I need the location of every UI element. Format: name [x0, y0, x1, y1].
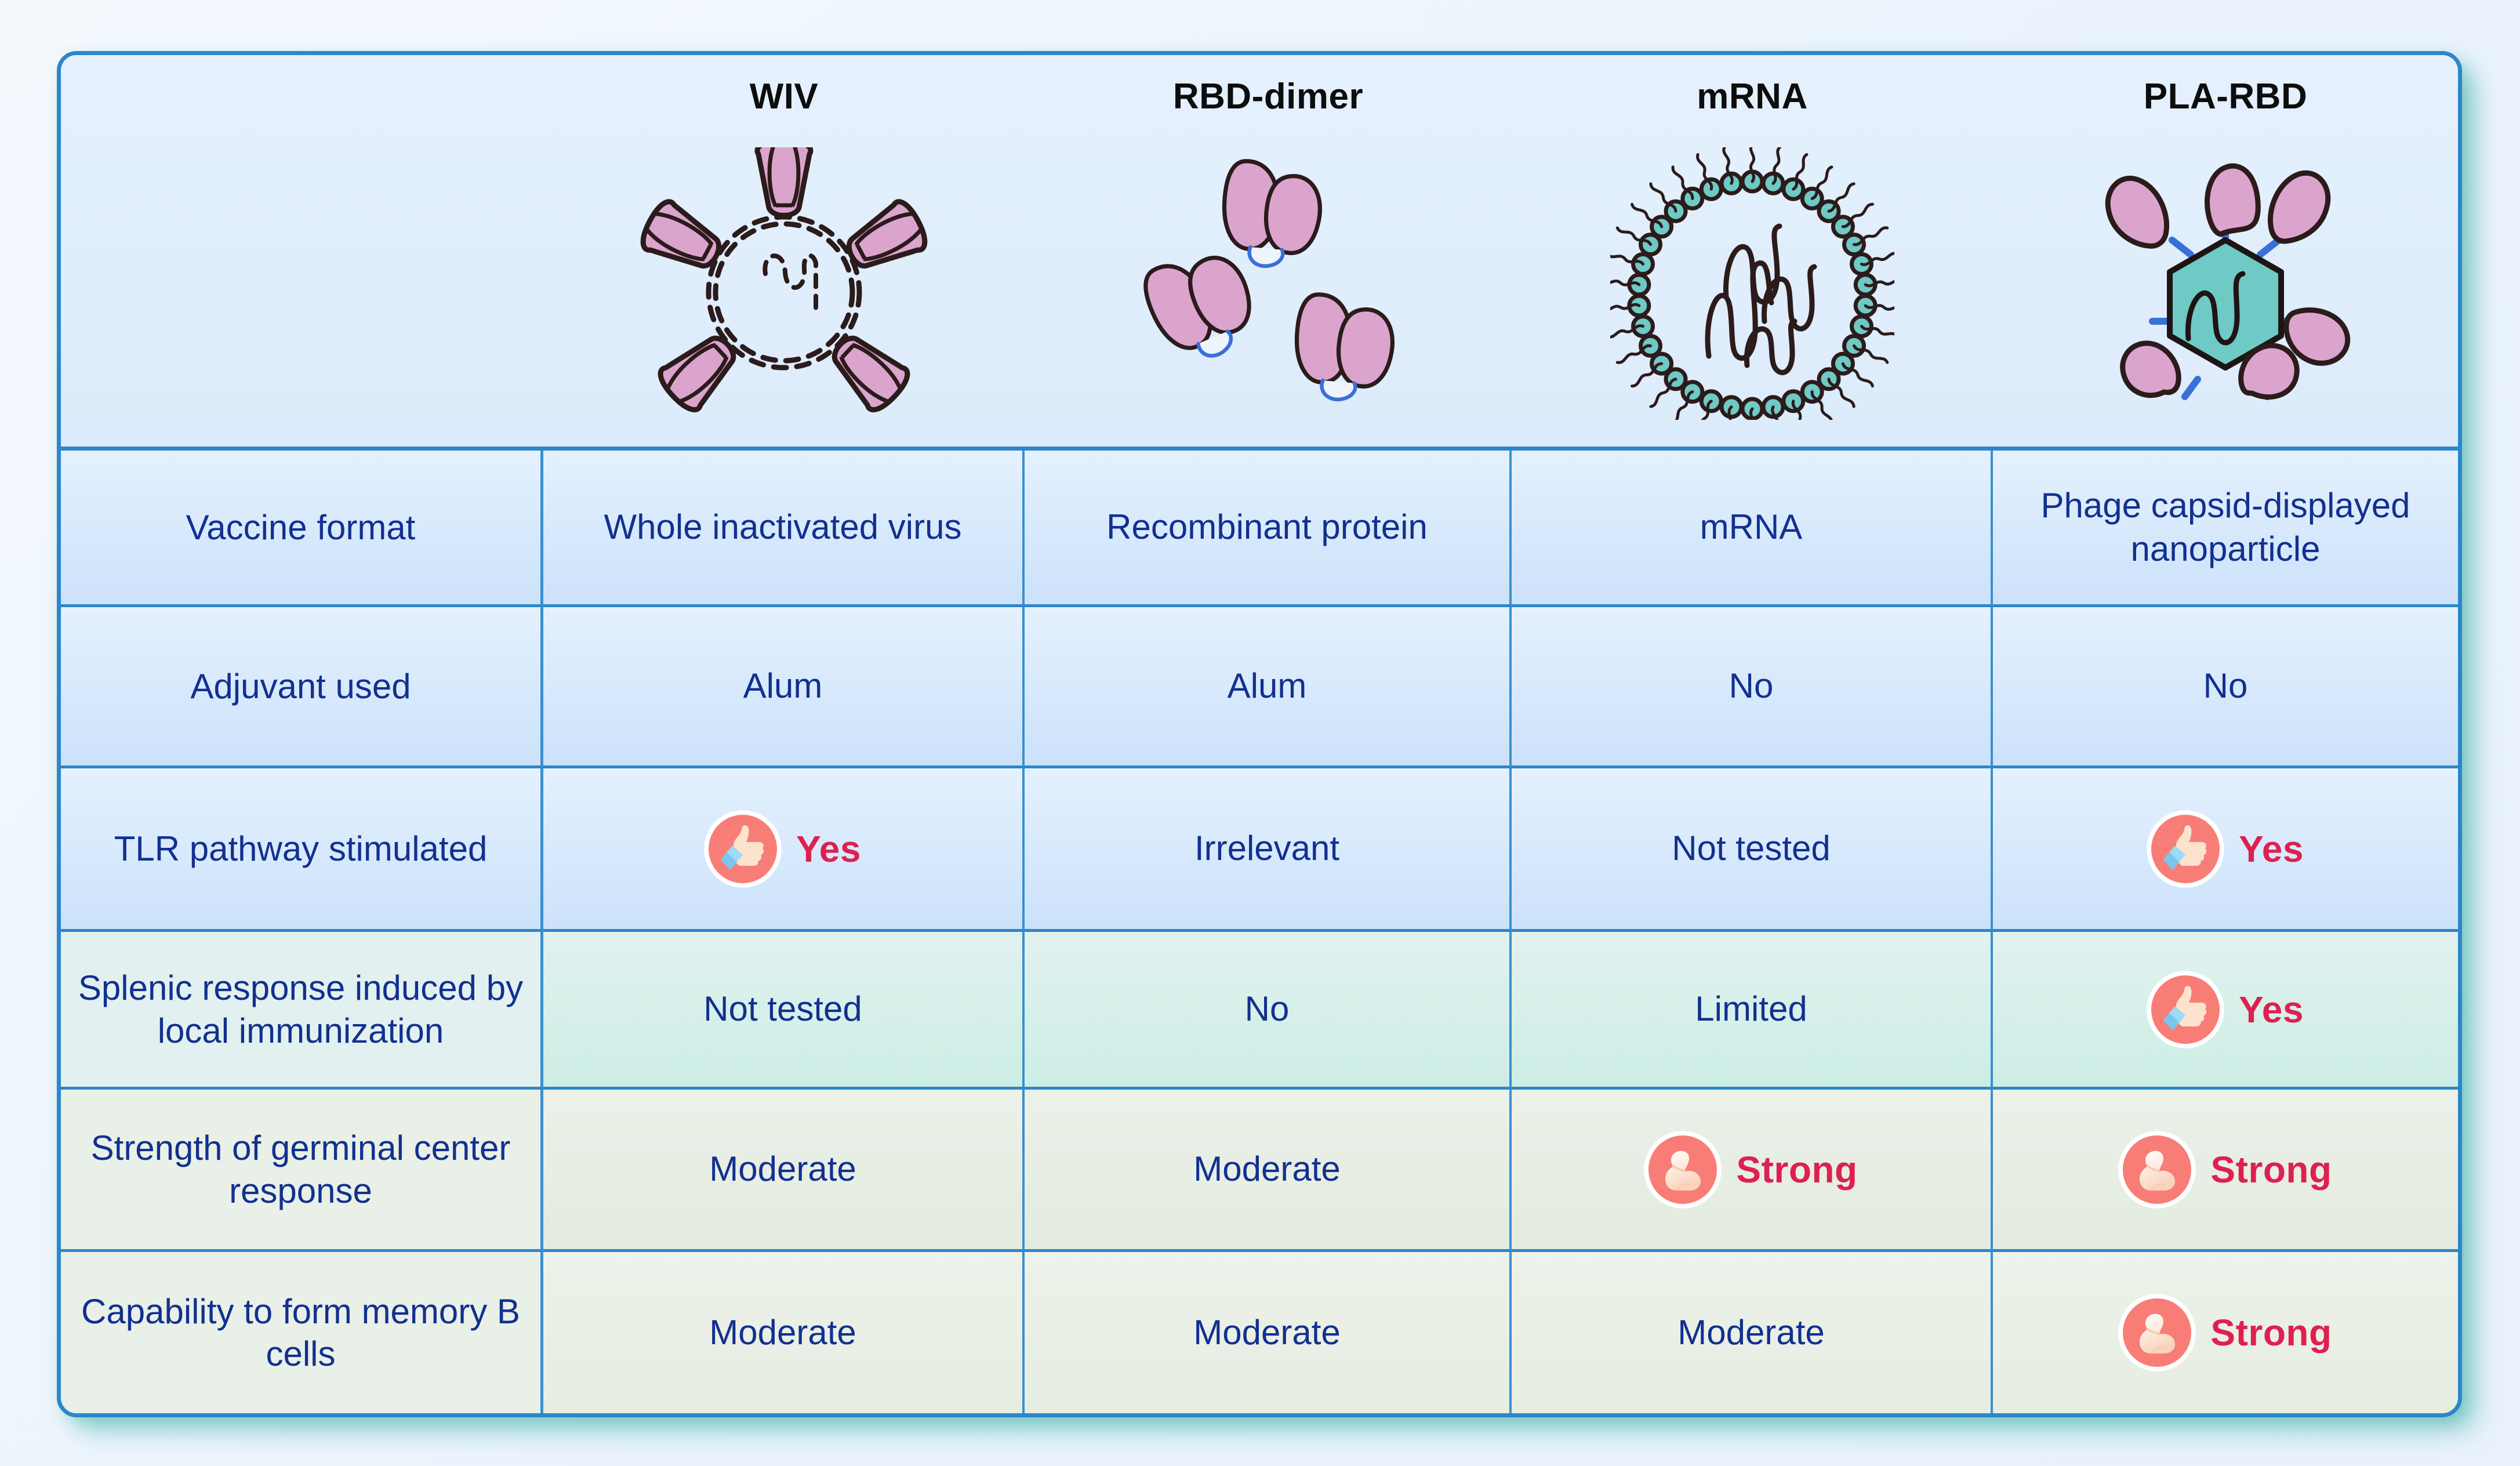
cell-value: mRNA — [1700, 506, 1803, 549]
cell-adjuvant-used-pla-rbd: No — [1993, 607, 2458, 768]
cell-value: Alum — [1228, 665, 1307, 707]
row-label-germinal-center-response: Strength of germinal center response — [61, 1090, 543, 1252]
cell-value: No — [2203, 665, 2248, 707]
cell-vaccine-format-mrna: mRNA — [1512, 451, 1993, 607]
column-header-wiv: WIV — [543, 55, 1025, 447]
cell-splenic-pla-rbd: Yes — [1993, 932, 2458, 1090]
cell-value: Not tested — [703, 988, 862, 1030]
row-label-text: Vaccine format — [186, 506, 416, 549]
cell-value: Recombinant protein — [1106, 506, 1428, 549]
cell-memory-b-mrna: Moderate — [1512, 1252, 1993, 1413]
status-badge: Strong — [2119, 1294, 2332, 1371]
badge-label: Strong — [1736, 1148, 1857, 1191]
cell-value: Moderate — [1193, 1148, 1340, 1191]
table-header-row: WIV — [61, 55, 2458, 451]
column-title-mrna: mRNA — [1697, 76, 1807, 117]
row-label-tlr-pathway-stimulated: TLR pathway stimulated — [61, 768, 543, 932]
column-header-rbd-dimer: RBD-dimer — [1025, 55, 1512, 447]
cell-vaccine-format-rbd-dimer: Recombinant protein — [1025, 451, 1512, 607]
cell-memory-b-pla-rbd: Strong — [1993, 1252, 2458, 1413]
lipid-nanoparticle-mrna-icon — [1512, 121, 1993, 447]
cell-value: Moderate — [1193, 1311, 1340, 1354]
row-label-text: Adjuvant used — [190, 665, 411, 707]
badge-label: Yes — [796, 828, 861, 870]
cell-vaccine-format-pla-rbd: Phage capsid-displayed nanoparticle — [1993, 451, 2458, 607]
row-label-adjuvant-used: Adjuvant used — [61, 607, 543, 768]
cell-adjuvant-used-wiv: Alum — [543, 607, 1025, 768]
cell-value: No — [1245, 988, 1290, 1030]
column-title-rbd-dimer: RBD-dimer — [1173, 76, 1363, 117]
cell-tlr-wiv: Yes — [543, 768, 1025, 932]
table-grid: WIV — [61, 55, 2458, 1413]
column-title-pla-rbd: PLA-RBD — [2144, 76, 2307, 117]
flexed-biceps-icon — [2119, 1131, 2195, 1208]
phage-capsid-nanoparticle-icon — [1993, 121, 2458, 447]
cell-value: Whole inactivated virus — [604, 506, 962, 549]
status-badge: Yes — [705, 811, 861, 887]
flexed-biceps-icon — [1644, 1131, 1721, 1208]
cell-adjuvant-used-mrna: No — [1512, 607, 1993, 768]
row-label-text: Strength of germinal center response — [76, 1127, 525, 1211]
cell-value: Phage capsid-displayed nanoparticle — [2008, 484, 2443, 571]
cell-splenic-wiv: Not tested — [543, 932, 1025, 1090]
row-label-text: Capability to form memory B cells — [76, 1290, 525, 1375]
thumbs-up-icon — [2147, 811, 2224, 887]
cell-value: Moderate — [709, 1148, 856, 1191]
cell-value: Limited — [1695, 988, 1807, 1030]
row-label-text: Splenic response induced by local immuni… — [76, 967, 525, 1051]
column-header-mrna: mRNA — [1512, 55, 1993, 447]
cell-value: Moderate — [709, 1311, 856, 1354]
row-label-vaccine-format: Vaccine format — [61, 451, 543, 607]
cell-tlr-rbd-dimer: Irrelevant — [1025, 768, 1512, 932]
cell-tlr-pla-rbd: Yes — [1993, 768, 2458, 932]
badge-label: Yes — [2239, 828, 2304, 870]
cell-splenic-mrna: Limited — [1512, 932, 1993, 1090]
cell-value: No — [1729, 665, 1774, 707]
cell-memory-b-wiv: Moderate — [543, 1252, 1025, 1413]
cell-splenic-rbd-dimer: No — [1025, 932, 1512, 1090]
cell-germinal-pla-rbd: Strong — [1993, 1090, 2458, 1252]
status-badge: Yes — [2147, 971, 2304, 1048]
cell-memory-b-rbd-dimer: Moderate — [1025, 1252, 1512, 1413]
thumbs-up-icon — [705, 811, 781, 887]
header-corner-blank — [61, 55, 543, 447]
row-label-splenic-response: Splenic response induced by local immuni… — [61, 932, 543, 1090]
cell-tlr-mrna: Not tested — [1512, 768, 1993, 932]
flexed-biceps-icon — [2119, 1294, 2195, 1371]
cell-value: Irrelevant — [1194, 827, 1339, 870]
column-title-wiv: WIV — [750, 76, 819, 117]
badge-label: Yes — [2239, 988, 2304, 1031]
table-shell: WIV — [57, 51, 2462, 1417]
cell-adjuvant-used-rbd-dimer: Alum — [1025, 607, 1512, 768]
cell-value: Alum — [743, 665, 823, 707]
cell-germinal-mrna: Strong — [1512, 1090, 1993, 1252]
cell-vaccine-format-wiv: Whole inactivated virus — [543, 451, 1025, 607]
badge-label: Strong — [2210, 1148, 2332, 1191]
badge-label: Strong — [2210, 1311, 2332, 1354]
row-label-memory-b-cells: Capability to form memory B cells — [61, 1252, 543, 1413]
cell-germinal-wiv: Moderate — [543, 1090, 1025, 1252]
comparison-table-figure: WIV — [0, 0, 2520, 1466]
status-badge: Yes — [2147, 811, 2304, 887]
row-label-text: TLR pathway stimulated — [114, 828, 488, 870]
cell-germinal-rbd-dimer: Moderate — [1025, 1090, 1512, 1252]
cell-value: Moderate — [1677, 1311, 1824, 1354]
cell-value: Not tested — [1672, 827, 1831, 870]
status-badge: Strong — [2119, 1131, 2332, 1208]
thumbs-up-icon — [2147, 971, 2224, 1048]
rbd-dimer-icon — [1025, 121, 1512, 447]
column-header-pla-rbd: PLA-RBD — [1993, 55, 2458, 447]
whole-inactivated-virus-icon — [543, 121, 1025, 447]
status-badge: Strong — [1644, 1131, 1857, 1208]
